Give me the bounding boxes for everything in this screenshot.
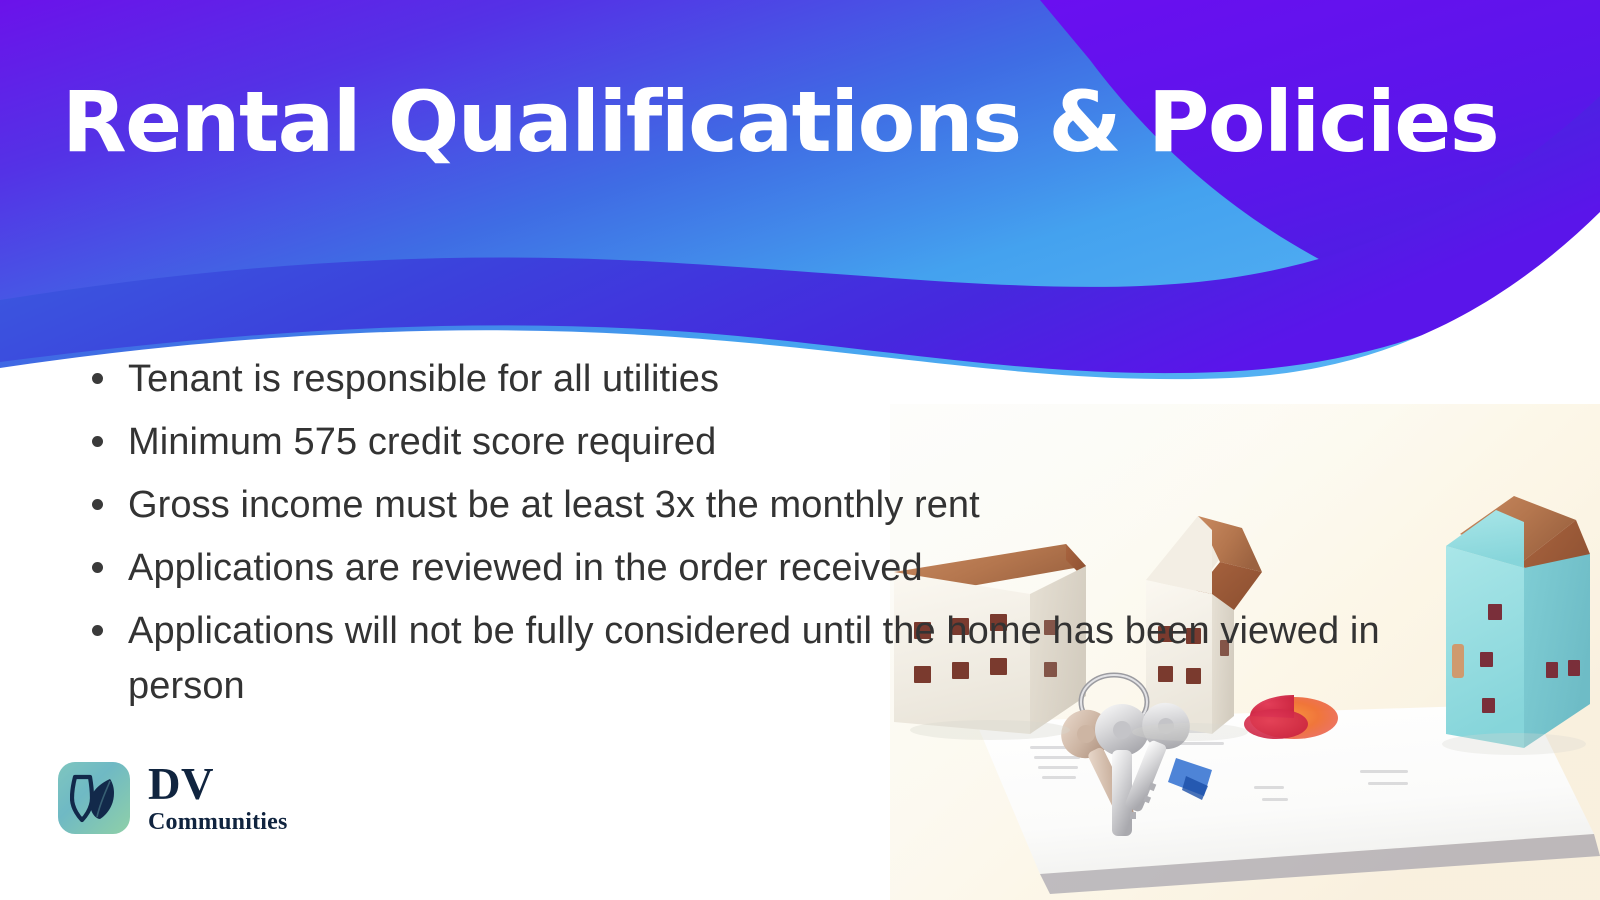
bullet-item-text: Minimum 575 credit score required (128, 415, 716, 470)
header-wave-graphic (0, 0, 1600, 380)
logo-subtitle: Communities (148, 810, 288, 834)
bullet-dot-icon (92, 562, 103, 573)
list-item: Tenant is responsible for all utilities (92, 352, 1452, 407)
wooden-house-teal-right (1446, 496, 1590, 748)
list-item: Gross income must be at least 3x the mon… (92, 478, 1452, 533)
bullet-dot-icon (92, 373, 103, 384)
door (1452, 644, 1464, 678)
bullet-dot-icon (92, 499, 103, 510)
logo-name: DV (148, 762, 288, 807)
list-item: Applications are reviewed in the order r… (92, 541, 1452, 596)
list-item: Applications will not be fully considere… (92, 604, 1452, 714)
slide-title: Rental Qualifications & Policies (62, 78, 1522, 166)
bullet-item-text: Gross income must be at least 3x the mon… (128, 478, 980, 533)
bullet-item-text: Tenant is responsible for all utilities (128, 352, 719, 407)
brand-logo: DV Communities (58, 762, 288, 834)
shield-leaf-icon (58, 762, 130, 834)
slide-canvas: Rental Qualifications & Policies (0, 0, 1600, 900)
bullet-list: Tenant is responsible for all utilities … (92, 352, 1452, 722)
bullet-dot-icon (92, 436, 103, 447)
bullet-item-text: Applications will not be fully considere… (128, 604, 1452, 714)
bullet-item-text: Applications are reviewed in the order r… (128, 541, 923, 596)
bullet-dot-icon (92, 625, 103, 636)
list-item: Minimum 575 credit score required (92, 415, 1452, 470)
logo-wordmark: DV Communities (148, 762, 288, 834)
